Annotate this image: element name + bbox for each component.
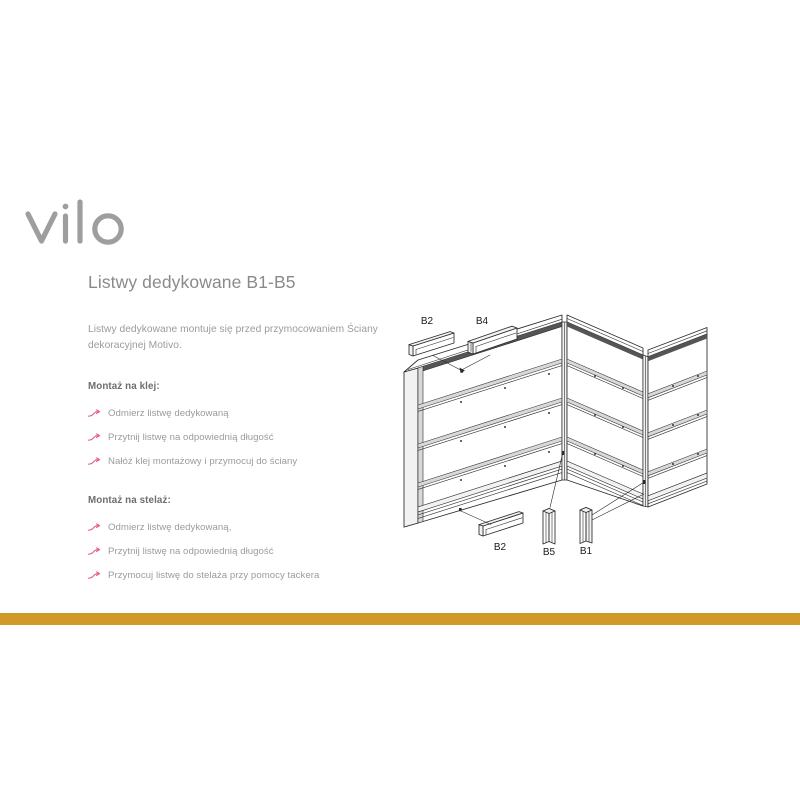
vilo-logo-dot: [63, 204, 69, 210]
steps-list-glue: Odmierz listwę dedykowaną Przytnij listw…: [88, 408, 388, 469]
vilo-logo: [24, 198, 134, 254]
part-b5-bottom: [543, 509, 555, 545]
list-item: Przytnij listwę na odpowiednią długość: [88, 546, 388, 559]
section-heading-frame: Montaż na stelaż:: [88, 495, 388, 506]
left-wall-edge: [404, 368, 418, 527]
section-heading-glue: Montaż na klej:: [88, 381, 388, 392]
leader-b1-b: [592, 494, 644, 520]
part-b1-bottom: [580, 508, 592, 544]
step-label: Przytnij listwę na odpowiednią długość: [108, 432, 274, 445]
vilo-logo-o: [95, 216, 121, 242]
arrow-right-icon: [88, 457, 102, 468]
arrow-right-icon: [88, 409, 102, 420]
intro-paragraph: Listwy dedykowane montuje się przed przy…: [88, 322, 388, 355]
list-item: Odmierz listwę dedykowaną: [88, 408, 388, 421]
step-label: Odmierz listwę dedykowaną: [108, 408, 229, 421]
text-column: Listwy dedykowane B1-B5 Listwy dedykowan…: [88, 272, 388, 609]
wall-assembly: [404, 315, 707, 527]
callout-label-b4-top: B4: [476, 316, 489, 327]
accent-divider: [0, 613, 800, 625]
list-item: Odmierz listwę dedykowaną,: [88, 522, 388, 535]
anchor-point-b5: [562, 451, 565, 455]
page-title: Listwy dedykowane B1-B5: [88, 272, 388, 294]
part-b2-bottom: [479, 512, 523, 536]
list-item: Przytnij listwę na odpowiednią długość: [88, 432, 388, 445]
callout-label-b2-top: B2: [421, 316, 434, 327]
anchor-point-b2-bottom: [459, 508, 462, 511]
arrow-right-icon: [88, 571, 102, 582]
callout-label-b1-bottom: B1: [580, 546, 593, 557]
list-item: Nałóż klej montażowy i przymocuj do ścia…: [88, 456, 388, 469]
arrow-right-icon: [88, 433, 102, 444]
callout-label-b2-bottom: B2: [494, 542, 507, 553]
vilo-logo-mark: [24, 198, 134, 254]
step-label: Przytnij listwę na odpowiednią długość: [108, 546, 274, 559]
step-label: Odmierz listwę dedykowaną,: [108, 522, 231, 535]
step-label: Nałóż klej montażowy i przymocuj do ścia…: [108, 456, 297, 469]
leader-b2-bottom: [461, 511, 491, 525]
step-label: Przymocuj listwę do stelaża przy pomocy …: [108, 570, 319, 583]
anchor-point-b1: [643, 480, 646, 484]
callout-label-b5-bottom: B5: [543, 547, 556, 558]
steps-list-frame: Odmierz listwę dedykowaną, Przytnij list…: [88, 522, 388, 583]
assembly-drawing: .ln { fill:none; stroke:#2b2b2b; stroke-…: [395, 310, 725, 560]
arrow-right-icon: [88, 547, 102, 558]
list-item: Przymocuj listwę do stelaża przy pomocy …: [88, 570, 388, 583]
assembly-illustration: .ln { fill:none; stroke:#2b2b2b; stroke-…: [395, 310, 725, 560]
page-canvas: Listwy dedykowane B1-B5 Listwy dedykowan…: [0, 0, 800, 800]
arrow-right-icon: [88, 523, 102, 534]
